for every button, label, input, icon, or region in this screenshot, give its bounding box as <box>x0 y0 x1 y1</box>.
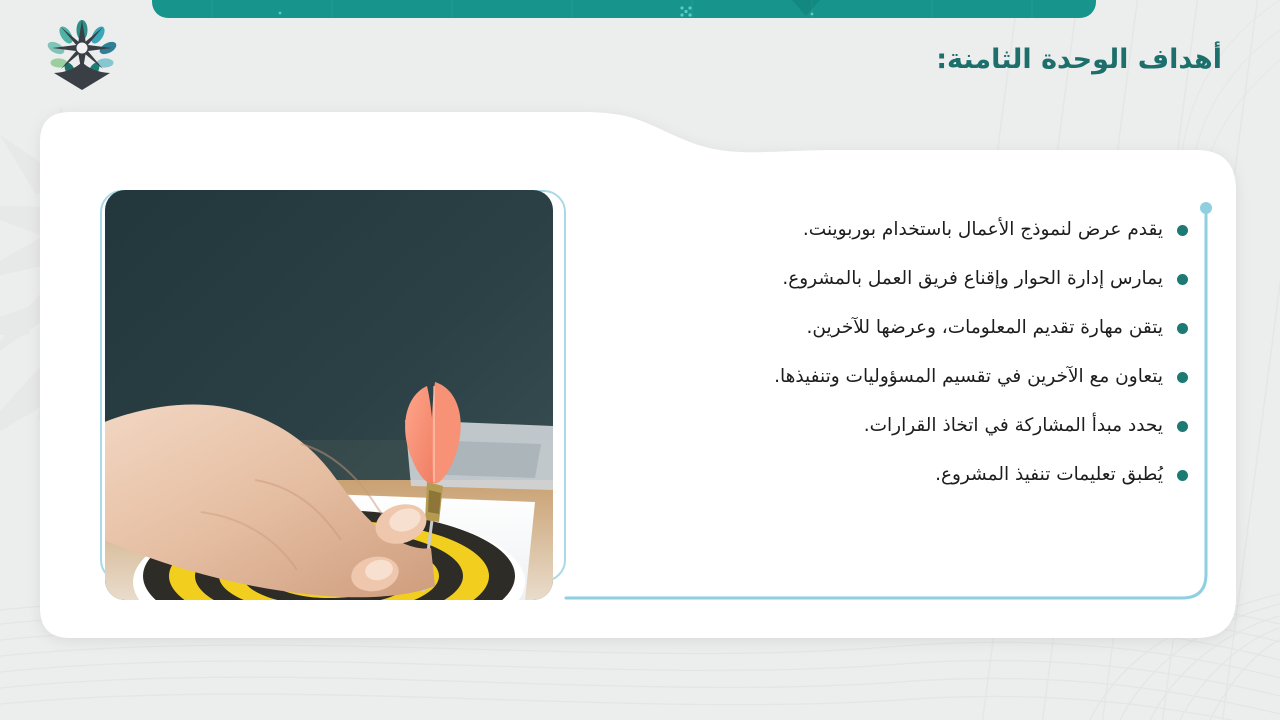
list-item: يتقن مهارة تقديم المعلومات، وعرضها للآخر… <box>628 304 1188 353</box>
list-item-label: يقدم عرض لنموذج الأعمال باستخدام بوربوين… <box>803 218 1163 243</box>
dart-and-target-photo <box>105 190 553 600</box>
dart-and-target-illustration <box>105 190 553 600</box>
list-item-label: يتعاون مع الآخرين في تقسيم المسؤوليات وت… <box>774 365 1163 390</box>
bullet-dot-icon <box>1177 470 1188 481</box>
list-item: يحدد مبدأ المشاركة في اتخاذ القرارات. <box>628 402 1188 451</box>
list-item-label: يحدد مبدأ المشاركة في اتخاذ القرارات. <box>864 414 1163 439</box>
decorative-top-bar <box>152 0 1096 18</box>
objectives-list: يقدم عرض لنموذج الأعمال باستخدام بوربوين… <box>628 206 1188 500</box>
list-item-label: يمارس إدارة الحوار وإقناع فريق العمل بال… <box>782 267 1163 292</box>
list-item: يُطبق تعليمات تنفيذ المشروع. <box>628 451 1188 500</box>
bullet-dot-icon <box>1177 421 1188 432</box>
top-bar-texture <box>152 0 1096 18</box>
bullet-dot-icon <box>1177 225 1188 236</box>
list-item: يمارس إدارة الحوار وإقناع فريق العمل بال… <box>628 255 1188 304</box>
list-item-label: يُطبق تعليمات تنفيذ المشروع. <box>935 463 1163 488</box>
list-item: يقدم عرض لنموذج الأعمال باستخدام بوربوين… <box>628 206 1188 255</box>
bullet-dot-icon <box>1177 372 1188 383</box>
list-item-label: يتقن مهارة تقديم المعلومات، وعرضها للآخر… <box>807 316 1163 341</box>
bullet-dot-icon <box>1177 323 1188 334</box>
slide-stage: أهداف الوحدة الثامنة: <box>0 0 1280 720</box>
page-title: أهداف الوحدة الثامنة: <box>936 44 1222 76</box>
tvtc-logo <box>42 18 122 94</box>
bullet-dot-icon <box>1177 274 1188 285</box>
list-item: يتعاون مع الآخرين في تقسيم المسؤوليات وت… <box>628 353 1188 402</box>
